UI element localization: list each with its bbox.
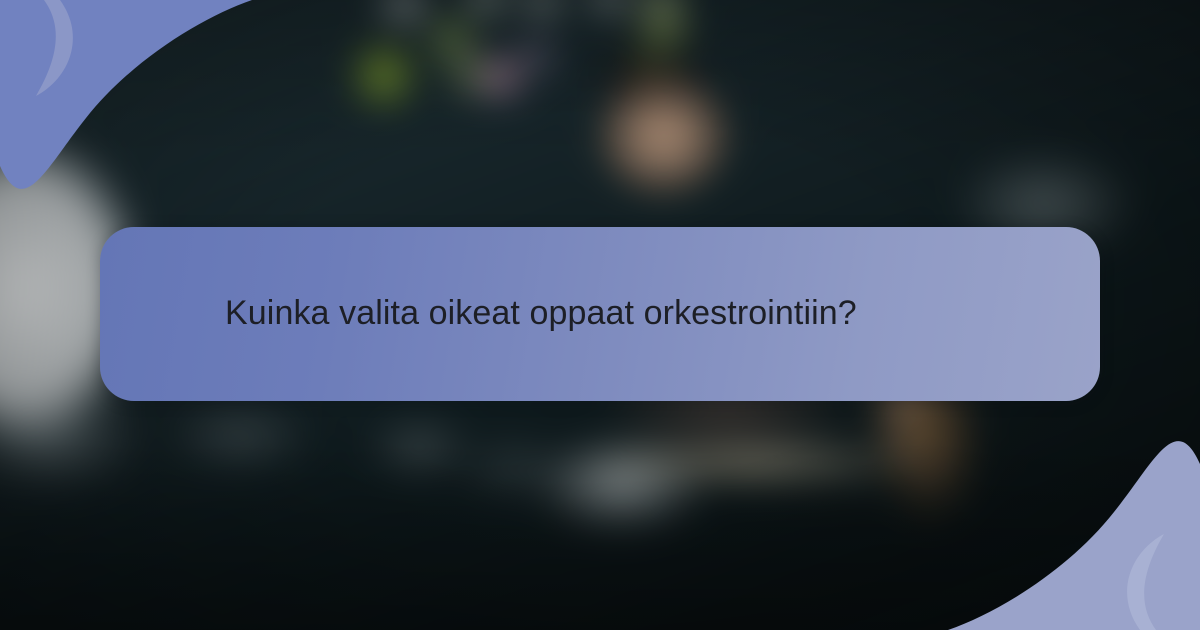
share-card-canvas: Kuinka valita oikeat oppaat orkestrointi… <box>0 0 1200 630</box>
page-title: Kuinka valita oikeat oppaat orkestrointi… <box>100 293 967 334</box>
headline-card: Kuinka valita oikeat oppaat orkestrointi… <box>100 227 1100 401</box>
